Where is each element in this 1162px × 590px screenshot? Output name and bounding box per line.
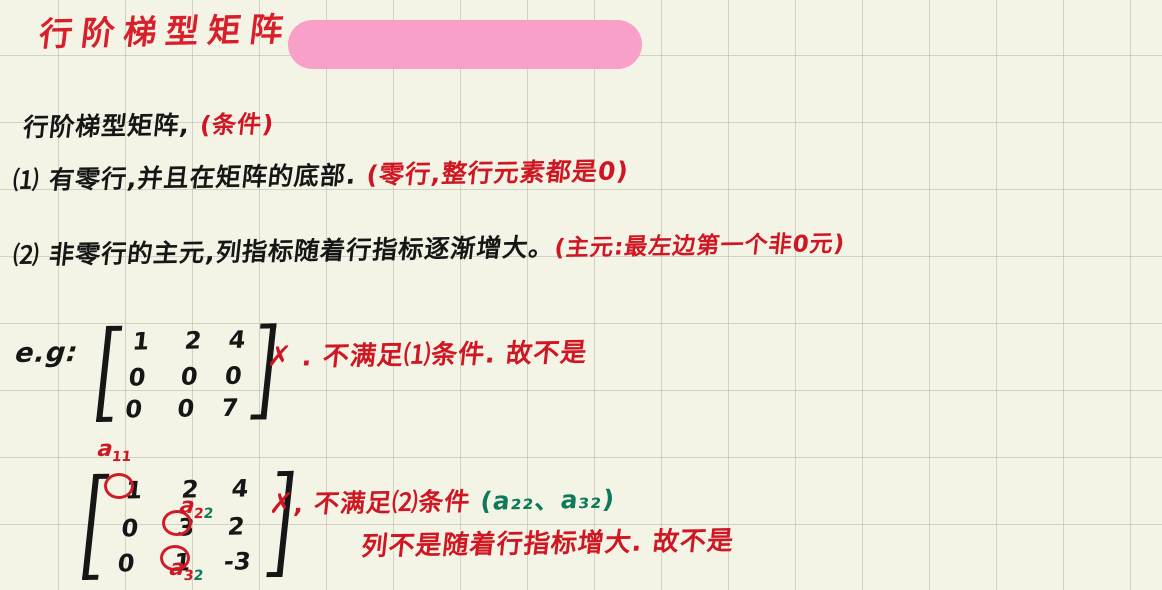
matrix-cell: 0 (124, 395, 144, 423)
matrix-2-annotation: ✗, 不满足⑵条件(a₂₂、a₃₂) (268, 485, 617, 518)
matrix-2-annotation-line2: 列不是随着行指标增大. 故不是 (360, 528, 735, 560)
matrix-cell: 0 (179, 362, 199, 390)
pivot-label-a32-sub-teal: 2 (193, 568, 204, 584)
matrix-2-annotation-text: , 不满足⑵条件 (292, 487, 472, 519)
matrix-cell: 0 (176, 394, 196, 422)
condition-1-line: ⑴ 有零行,并且在矩阵的底部.(零行,整行元素都是0) (12, 158, 630, 193)
title-highlight (288, 20, 642, 69)
notebook-page: 行阶梯型矩阵 行阶梯型矩阵,(条件) ⑴ 有零行,并且在矩阵的底部.(零行,整行… (0, 0, 1162, 590)
pivot-label-a22-sub-teal: 2 (203, 506, 214, 522)
condition-2-line: ⑵ 非零行的主元,列指标随着行指标逐渐增大。(主元:最左边第一个非0元) (12, 230, 847, 269)
matrix-cell: 0 (223, 362, 243, 390)
condition-1-text: ⑴ 有零行,并且在矩阵的底部. (12, 161, 358, 195)
example-label: e.g: (14, 339, 80, 367)
cross-mark-icon: ✗ (266, 340, 294, 373)
pivot-label-a11: a11 (96, 436, 133, 465)
matrix-1-annotation-text: . 不满足⑴条件. 故不是 (300, 338, 589, 372)
matrix-2-pivot-list: (a₂₂、a₃₂) (479, 485, 617, 516)
matrix-bracket-left (96, 326, 122, 422)
matrix-cell: -3 (222, 547, 252, 575)
matrix-cell: 7 (220, 394, 240, 422)
matrix-cell: 4 (230, 475, 250, 503)
condition-2-note: (主元:最左边第一个非0元) (553, 231, 847, 262)
matrix-cell: 0 (127, 363, 147, 391)
matrix-cell: 2 (183, 326, 203, 354)
matrix-1-annotation: ✗. 不满足⑴条件. 故不是 (266, 338, 589, 371)
matrix-cell: 2 (226, 513, 246, 541)
matrix-cell: 1 (131, 327, 151, 355)
condition-1-note: (零行,整行元素都是0) (365, 156, 630, 189)
definition-text: 行阶梯型矩阵, (22, 110, 192, 142)
pivot-circle-a11 (104, 473, 134, 499)
pivot-label-a22: a22 (178, 493, 215, 522)
matrix-example-1: 1 2 4 0 0 0 0 0 7 (96, 323, 277, 422)
matrix-cell: 0 (116, 549, 136, 577)
definition-line: 行阶梯型矩阵,(条件) (22, 111, 276, 140)
matrix-cell: 4 (227, 326, 247, 354)
pivot-label-a11-sub: 11 (111, 449, 132, 465)
condition-2-text: ⑵ 非零行的主元,列指标随着行指标逐渐增大。 (12, 233, 556, 270)
definition-condition-note: (条件) (199, 110, 276, 139)
matrix-cell: 0 (120, 514, 140, 542)
page-title: 行阶梯型矩阵 (37, 2, 295, 55)
pivot-label-a32: a32 (168, 555, 205, 584)
